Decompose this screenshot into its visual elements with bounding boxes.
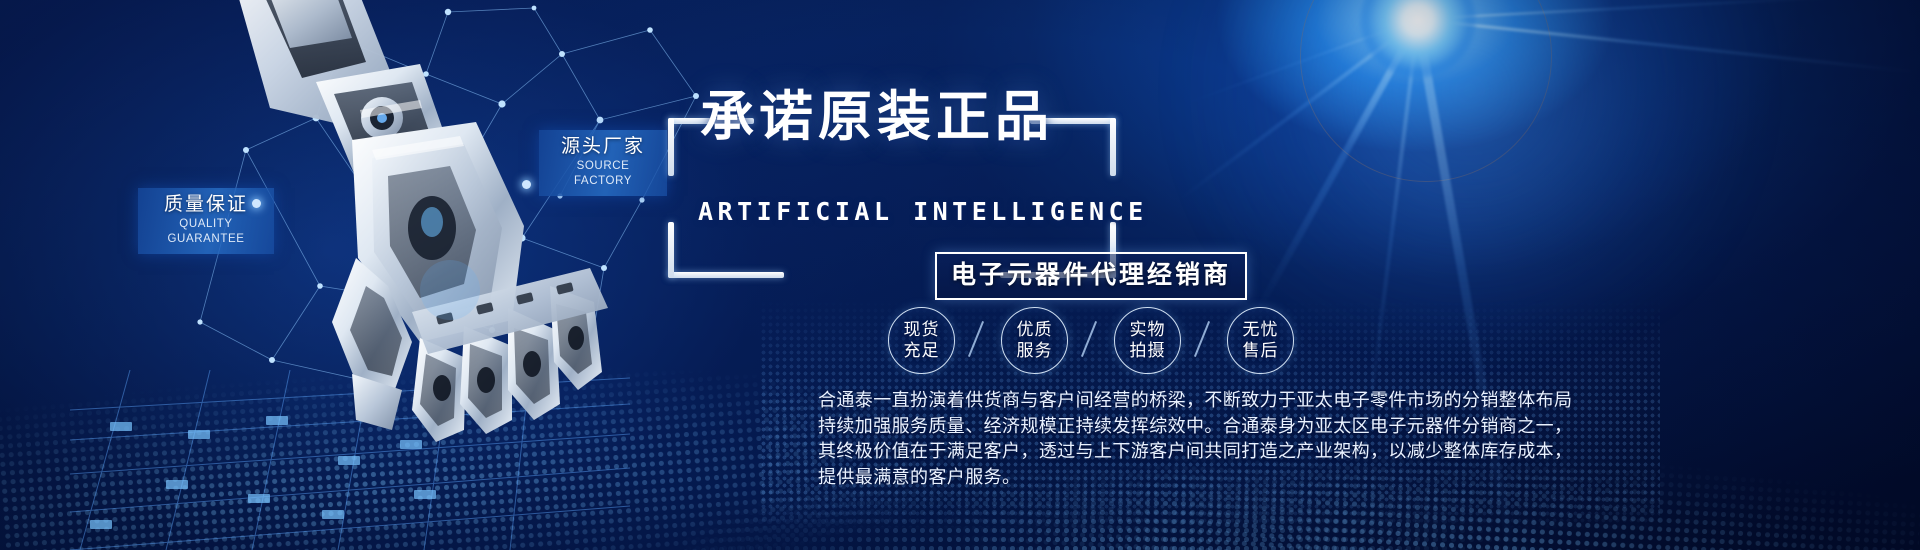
business-type-label: 电子元器件代理经销商 bbox=[951, 260, 1231, 290]
tag-source-factory: 源头厂家 SOURCE FACTORY bbox=[539, 130, 667, 196]
feature-badge-service-line1: 优质 bbox=[1017, 319, 1053, 340]
description-line-2: 持续加强服务质量、经济规模正持续发挥综效中。合通泰身为亚太区电子元器件分销商之一… bbox=[818, 414, 1658, 440]
feature-badge-stock-line1: 现货 bbox=[904, 319, 940, 340]
description-line-3: 其终极价值在于满足客户，透过与上下游客户间共同打造之产业架构，以减少整体库存成本… bbox=[818, 439, 1658, 465]
tag-factory-node-dot bbox=[522, 180, 531, 189]
tag-quality-en: QUALITY GUARANTEE bbox=[150, 217, 262, 247]
feature-badge-list: 现货 充足 优质 服务 实物 拍摄 无忧 售后 bbox=[888, 305, 1294, 375]
feature-badge-stock: 现货 充足 bbox=[888, 307, 955, 374]
description-line-4: 提供最满意的客户服务。 bbox=[818, 465, 1658, 491]
ai-electronics-banner: 质量保证 QUALITY GUARANTEE 源头厂家 SOURCE FACTO… bbox=[0, 0, 1920, 550]
feature-badge-service: 优质 服务 bbox=[1001, 307, 1068, 374]
business-type-badge: 电子元器件代理经销商 bbox=[935, 252, 1247, 300]
tag-factory-cn: 源头厂家 bbox=[551, 135, 655, 158]
feature-badge-real-photo: 实物 拍摄 bbox=[1114, 307, 1181, 374]
tag-quality-guarantee: 质量保证 QUALITY GUARANTEE bbox=[138, 188, 274, 254]
badge-separator-3 bbox=[1181, 322, 1227, 358]
badge-separator-2 bbox=[1068, 322, 1114, 358]
tag-quality-node-dot bbox=[252, 199, 261, 208]
company-description: 合通泰一直扮演着供货商与客户间经营的桥梁，不断致力于亚太电子零件市场的分销整体布… bbox=[818, 388, 1658, 490]
description-line-1: 合通泰一直扮演着供货商与客户间经营的桥梁，不断致力于亚太电子零件市场的分销整体布… bbox=[818, 388, 1658, 414]
feature-badge-real-photo-line1: 实物 bbox=[1130, 319, 1166, 340]
subtitle-english: ARTIFICIAL INTELLIGENCE bbox=[698, 197, 1102, 226]
feature-badge-aftersales: 无忧 售后 bbox=[1227, 307, 1294, 374]
tag-factory-en: SOURCE FACTORY bbox=[551, 159, 655, 189]
feature-badge-real-photo-line2: 拍摄 bbox=[1130, 340, 1166, 361]
feature-badge-aftersales-line2: 售后 bbox=[1243, 340, 1279, 361]
page-title: 承诺原装正品 bbox=[700, 86, 1100, 148]
feature-badge-service-line2: 服务 bbox=[1017, 340, 1053, 361]
feature-badge-stock-line2: 充足 bbox=[904, 340, 940, 361]
badge-separator-1 bbox=[955, 322, 1001, 358]
feature-badge-aftersales-line1: 无忧 bbox=[1243, 319, 1279, 340]
tag-quality-cn: 质量保证 bbox=[150, 193, 262, 216]
